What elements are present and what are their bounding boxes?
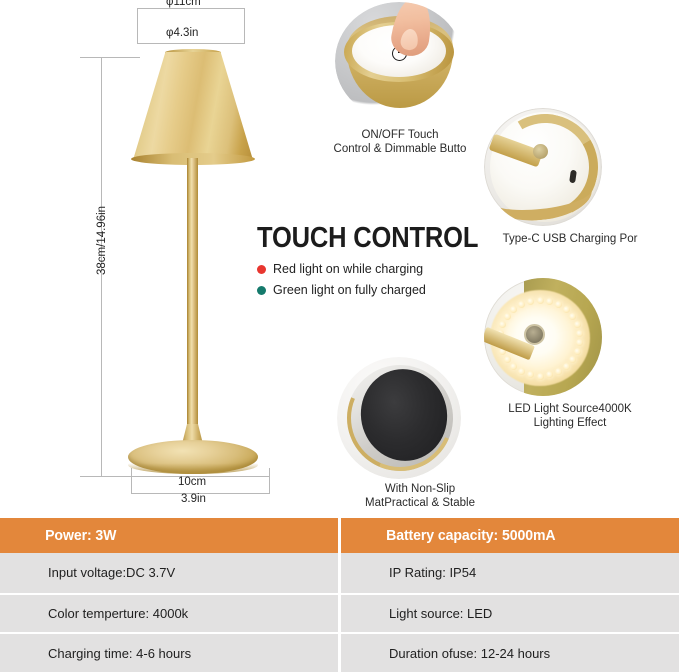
led-dot: [527, 298, 534, 305]
spec-table-header: Power: 3W Battery capacity: 5000mA: [0, 518, 679, 553]
spec-header-power: Power: 3W: [0, 518, 318, 553]
lamp-shade: [133, 52, 253, 160]
dim-label-height: 38cm/14.96in: [96, 206, 108, 275]
led-dot: [510, 306, 517, 313]
bullet-label-charging: Red light on while charging: [273, 262, 423, 276]
table-row: Input voltage:DC 3.7V IP Rating: IP54: [0, 553, 679, 593]
led-dot: [563, 306, 570, 313]
led-dot: [574, 348, 581, 355]
dim-line-shade-in: [137, 43, 245, 44]
led-dot: [504, 356, 511, 363]
dim-label-base-in: 3.9in: [181, 493, 206, 505]
caption-line-2: Control & Dimmable Butto: [300, 142, 500, 156]
stem-joint: [533, 144, 548, 159]
led-dot: [569, 356, 576, 363]
led-dot: [504, 313, 511, 320]
spec-color-temperature: Color temperture: 4000k: [0, 595, 338, 633]
led-dot: [546, 298, 553, 305]
led-dot: [546, 371, 553, 378]
caption-line-2: Lighting Effect: [470, 416, 670, 430]
led-dot: [576, 339, 583, 346]
spec-input-voltage: Input voltage:DC 3.7V: [0, 553, 338, 593]
spec-charging-time: Charging time: 4-6 hours: [0, 634, 338, 672]
dim-tick-shade-left: [137, 8, 138, 43]
dim-label-shade-in: φ4.3in: [166, 27, 198, 39]
caption-line-1: ON/OFF Touch: [300, 128, 500, 142]
lamp-product-image: [120, 52, 265, 477]
bullet-row-charged: Green light on fully charged: [257, 283, 472, 297]
led-dot: [576, 330, 583, 337]
led-dot: [555, 368, 562, 375]
dim-label-shade-cm: φ11cm: [166, 0, 201, 8]
caption-line-1: With Non-Slip: [325, 482, 515, 496]
spec-duration-of-use: Duration ofuse: 12-24 hours: [341, 634, 679, 672]
callout-touch-button-caption: ON/OFF Touch Control & Dimmable Butto: [300, 128, 500, 156]
callout-usb-port-caption: Type-C USB Charging Por: [470, 232, 670, 246]
specification-table: Power: 3W Battery capacity: 5000mA Input…: [0, 518, 679, 672]
red-indicator-dot: [257, 265, 266, 274]
spec-header-battery: Battery capacity: 5000mA: [341, 518, 659, 553]
table-row: Charging time: 4-6 hours Duration ofuse:…: [0, 632, 679, 672]
caption-line-1: LED Light Source4000K: [470, 402, 670, 416]
center-hub: [524, 324, 545, 345]
table-row: Color temperture: 4000k Light source: LE…: [0, 593, 679, 633]
spec-ip-rating: IP Rating: IP54: [341, 553, 679, 593]
callout-led-source-image: [484, 278, 602, 396]
led-dot: [518, 301, 525, 308]
callout-non-slip-mat-image: [337, 357, 461, 479]
led-dot: [574, 321, 581, 328]
spec-light-source: Light source: LED: [341, 595, 679, 633]
product-infographic: φ11cm φ4.3in 38cm/14.96in 10cm 3.9in ON/…: [0, 0, 679, 672]
touch-control-block: TOUCH CONTROL Red light on while chargin…: [257, 222, 472, 297]
bullet-label-charged: Green light on fully charged: [273, 283, 426, 297]
led-dot: [563, 363, 570, 370]
callout-touch-button-image: [335, 2, 463, 120]
lamp-stem: [187, 158, 198, 438]
spec-table-body: Input voltage:DC 3.7V IP Rating: IP54 Co…: [0, 553, 679, 672]
callout-led-source-caption: LED Light Source4000K Lighting Effect: [470, 402, 670, 430]
bullet-row-charging: Red light on while charging: [257, 262, 472, 276]
dim-tick-shade-right: [244, 8, 245, 43]
led-dot: [537, 373, 544, 380]
led-dot: [569, 313, 576, 320]
callout-usb-port-image: [484, 108, 602, 226]
led-dot: [555, 301, 562, 308]
green-indicator-dot: [257, 286, 266, 295]
led-dot: [537, 297, 544, 304]
dim-label-base-cm: 10cm: [178, 476, 206, 488]
caption-line-2: MatPractical & Stable: [325, 496, 515, 510]
led-dot: [527, 371, 534, 378]
caption-line-1: Type-C USB Charging Por: [470, 232, 670, 246]
touch-control-title: TOUCH CONTROL: [257, 222, 446, 255]
dim-tick-base-right: [269, 468, 270, 494]
lamp-base-rim: [128, 456, 258, 474]
dim-line-shade-top: [137, 8, 245, 9]
led-dot: [518, 368, 525, 375]
callout-non-slip-mat-caption: With Non-Slip MatPractical & Stable: [325, 482, 515, 510]
led-dot: [510, 363, 517, 370]
led-dot: [499, 321, 506, 328]
